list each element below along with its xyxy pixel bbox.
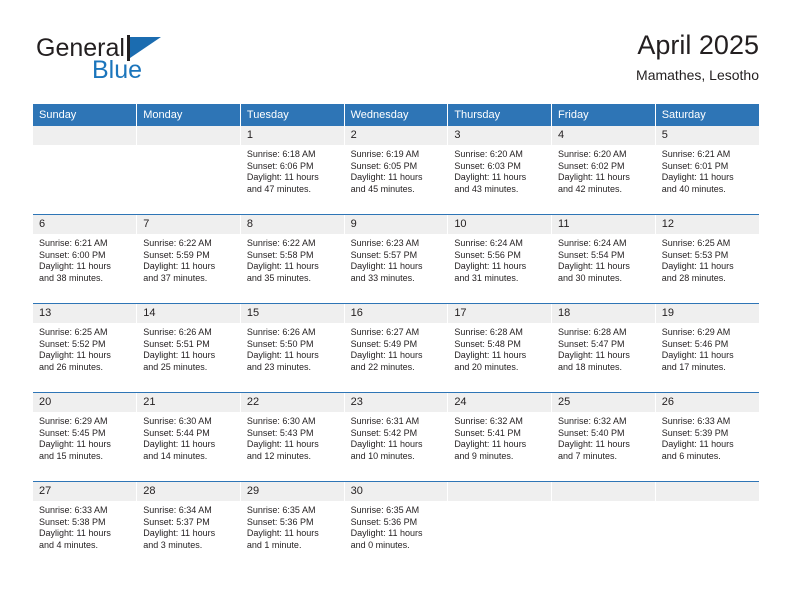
day-number: 23	[345, 393, 448, 412]
sunrise-text: Sunrise: 6:22 AM	[143, 238, 235, 250]
sunset-text: Sunset: 5:51 PM	[143, 339, 235, 351]
daylight-text: and 25 minutes.	[143, 362, 235, 374]
day-details: Sunrise: 6:35 AMSunset: 5:36 PMDaylight:…	[241, 501, 344, 551]
day-details: Sunrise: 6:31 AMSunset: 5:42 PMDaylight:…	[345, 412, 448, 462]
day-details: Sunrise: 6:30 AMSunset: 5:44 PMDaylight:…	[137, 412, 240, 462]
daylight-text: and 33 minutes.	[351, 273, 443, 285]
daylight-text: and 22 minutes.	[351, 362, 443, 374]
page-title: April 2025	[636, 28, 759, 62]
daylight-text: Daylight: 11 hours	[247, 172, 339, 184]
sunset-text: Sunset: 5:53 PM	[662, 250, 754, 262]
calendar-day-cell[interactable]: 2Sunrise: 6:19 AMSunset: 6:05 PMDaylight…	[344, 126, 448, 215]
sunset-text: Sunset: 6:01 PM	[662, 161, 754, 173]
day-details: Sunrise: 6:32 AMSunset: 5:40 PMDaylight:…	[552, 412, 655, 462]
weekday-header-tuesday: Tuesday	[240, 104, 344, 126]
sunrise-text: Sunrise: 6:34 AM	[143, 505, 235, 517]
daylight-text: Daylight: 11 hours	[247, 528, 339, 540]
sunrise-text: Sunrise: 6:33 AM	[662, 416, 754, 428]
daylight-text: and 40 minutes.	[662, 184, 754, 196]
sunset-text: Sunset: 5:56 PM	[454, 250, 546, 262]
page-subtitle: Mamathes, Lesotho	[636, 65, 759, 85]
calendar-week-row: 27Sunrise: 6:33 AMSunset: 5:38 PMDayligh…	[33, 482, 759, 571]
calendar-day-cell[interactable]: 4Sunrise: 6:20 AMSunset: 6:02 PMDaylight…	[552, 126, 656, 215]
daylight-text: and 17 minutes.	[662, 362, 754, 374]
calendar-day-cell[interactable]: 8Sunrise: 6:22 AMSunset: 5:58 PMDaylight…	[240, 215, 344, 304]
daylight-text: Daylight: 11 hours	[351, 528, 443, 540]
sunrise-text: Sunrise: 6:28 AM	[558, 327, 650, 339]
sunrise-text: Sunrise: 6:24 AM	[558, 238, 650, 250]
weekday-header-wednesday: Wednesday	[344, 104, 448, 126]
day-details: Sunrise: 6:20 AMSunset: 6:03 PMDaylight:…	[448, 145, 551, 195]
weekday-header-row: Sunday Monday Tuesday Wednesday Thursday…	[33, 104, 759, 126]
sunset-text: Sunset: 5:47 PM	[558, 339, 650, 351]
day-number: 20	[33, 393, 136, 412]
calendar-day-cell-empty	[552, 482, 656, 571]
calendar-day-cell[interactable]: 27Sunrise: 6:33 AMSunset: 5:38 PMDayligh…	[33, 482, 137, 571]
calendar-day-cell[interactable]: 10Sunrise: 6:24 AMSunset: 5:56 PMDayligh…	[448, 215, 552, 304]
sunrise-text: Sunrise: 6:23 AM	[351, 238, 443, 250]
daylight-text: Daylight: 11 hours	[143, 261, 235, 273]
day-details: Sunrise: 6:33 AMSunset: 5:38 PMDaylight:…	[33, 501, 136, 551]
sunset-text: Sunset: 5:59 PM	[143, 250, 235, 262]
calendar-week-row: 1Sunrise: 6:18 AMSunset: 6:06 PMDaylight…	[33, 126, 759, 215]
calendar-day-cell[interactable]: 7Sunrise: 6:22 AMSunset: 5:59 PMDaylight…	[137, 215, 241, 304]
day-details: Sunrise: 6:25 AMSunset: 5:52 PMDaylight:…	[33, 323, 136, 373]
calendar-day-cell[interactable]: 14Sunrise: 6:26 AMSunset: 5:51 PMDayligh…	[137, 304, 241, 393]
day-number: 13	[33, 304, 136, 323]
daylight-text: and 1 minute.	[247, 540, 339, 552]
sunrise-text: Sunrise: 6:31 AM	[351, 416, 443, 428]
sunrise-text: Sunrise: 6:35 AM	[351, 505, 443, 517]
calendar-day-cell[interactable]: 12Sunrise: 6:25 AMSunset: 5:53 PMDayligh…	[655, 215, 759, 304]
daylight-text: Daylight: 11 hours	[351, 172, 443, 184]
daylight-text: and 3 minutes.	[143, 540, 235, 552]
calendar-day-cell[interactable]: 17Sunrise: 6:28 AMSunset: 5:48 PMDayligh…	[448, 304, 552, 393]
weekday-header-monday: Monday	[137, 104, 241, 126]
daylight-text: Daylight: 11 hours	[247, 350, 339, 362]
sunset-text: Sunset: 5:50 PM	[247, 339, 339, 351]
day-number: 15	[241, 304, 344, 323]
calendar-day-cell[interactable]: 3Sunrise: 6:20 AMSunset: 6:03 PMDaylight…	[448, 126, 552, 215]
sunrise-text: Sunrise: 6:22 AM	[247, 238, 339, 250]
day-details: Sunrise: 6:23 AMSunset: 5:57 PMDaylight:…	[345, 234, 448, 284]
daylight-text: and 28 minutes.	[662, 273, 754, 285]
day-details: Sunrise: 6:28 AMSunset: 5:47 PMDaylight:…	[552, 323, 655, 373]
daylight-text: Daylight: 11 hours	[662, 261, 754, 273]
daylight-text: Daylight: 11 hours	[247, 261, 339, 273]
daylight-text: Daylight: 11 hours	[558, 172, 650, 184]
calendar-day-cell[interactable]: 13Sunrise: 6:25 AMSunset: 5:52 PMDayligh…	[33, 304, 137, 393]
day-details: Sunrise: 6:29 AMSunset: 5:45 PMDaylight:…	[33, 412, 136, 462]
day-details: Sunrise: 6:32 AMSunset: 5:41 PMDaylight:…	[448, 412, 551, 462]
calendar-day-cell[interactable]: 11Sunrise: 6:24 AMSunset: 5:54 PMDayligh…	[552, 215, 656, 304]
day-details: Sunrise: 6:24 AMSunset: 5:54 PMDaylight:…	[552, 234, 655, 284]
daylight-text: Daylight: 11 hours	[558, 261, 650, 273]
daylight-text: Daylight: 11 hours	[39, 350, 131, 362]
daylight-text: and 14 minutes.	[143, 451, 235, 463]
sunset-text: Sunset: 6:05 PM	[351, 161, 443, 173]
sunrise-text: Sunrise: 6:18 AM	[247, 149, 339, 161]
day-number: 12	[656, 215, 759, 234]
day-number: 17	[448, 304, 551, 323]
day-number: 1	[241, 126, 344, 145]
sunset-text: Sunset: 5:40 PM	[558, 428, 650, 440]
day-details: Sunrise: 6:35 AMSunset: 5:36 PMDaylight:…	[345, 501, 448, 551]
daylight-text: and 6 minutes.	[662, 451, 754, 463]
day-details: Sunrise: 6:21 AMSunset: 6:00 PMDaylight:…	[33, 234, 136, 284]
daylight-text: and 26 minutes.	[39, 362, 131, 374]
day-details: Sunrise: 6:19 AMSunset: 6:05 PMDaylight:…	[345, 145, 448, 195]
daylight-text: Daylight: 11 hours	[247, 439, 339, 451]
sunset-text: Sunset: 5:54 PM	[558, 250, 650, 262]
day-number: 6	[33, 215, 136, 234]
sunrise-text: Sunrise: 6:26 AM	[247, 327, 339, 339]
daylight-text: and 4 minutes.	[39, 540, 131, 552]
daylight-text: and 42 minutes.	[558, 184, 650, 196]
sunrise-text: Sunrise: 6:29 AM	[39, 416, 131, 428]
day-number: 16	[345, 304, 448, 323]
weekday-header-friday: Friday	[552, 104, 656, 126]
sunrise-text: Sunrise: 6:28 AM	[454, 327, 546, 339]
calendar-week-row: 6Sunrise: 6:21 AMSunset: 6:00 PMDaylight…	[33, 215, 759, 304]
sunset-text: Sunset: 5:57 PM	[351, 250, 443, 262]
daylight-text: and 45 minutes.	[351, 184, 443, 196]
sunset-text: Sunset: 6:03 PM	[454, 161, 546, 173]
sunrise-text: Sunrise: 6:29 AM	[662, 327, 754, 339]
daylight-text: and 0 minutes.	[351, 540, 443, 552]
calendar-day-cell[interactable]: 22Sunrise: 6:30 AMSunset: 5:43 PMDayligh…	[240, 393, 344, 482]
daylight-text: Daylight: 11 hours	[39, 439, 131, 451]
daylight-text: Daylight: 11 hours	[454, 350, 546, 362]
calendar-day-cell[interactable]: 18Sunrise: 6:28 AMSunset: 5:47 PMDayligh…	[552, 304, 656, 393]
calendar-day-cell[interactable]: 15Sunrise: 6:26 AMSunset: 5:50 PMDayligh…	[240, 304, 344, 393]
sunset-text: Sunset: 5:36 PM	[351, 517, 443, 529]
sunset-text: Sunset: 6:00 PM	[39, 250, 131, 262]
sunrise-text: Sunrise: 6:32 AM	[454, 416, 546, 428]
calendar-day-cell[interactable]: 16Sunrise: 6:27 AMSunset: 5:49 PMDayligh…	[344, 304, 448, 393]
sunrise-text: Sunrise: 6:21 AM	[39, 238, 131, 250]
sunset-text: Sunset: 5:43 PM	[247, 428, 339, 440]
calendar-day-cell[interactable]: 1Sunrise: 6:18 AMSunset: 6:06 PMDaylight…	[240, 126, 344, 215]
sunrise-text: Sunrise: 6:30 AM	[247, 416, 339, 428]
weekday-header-sunday: Sunday	[33, 104, 137, 126]
day-number: 7	[137, 215, 240, 234]
daylight-text: Daylight: 11 hours	[558, 350, 650, 362]
sunset-text: Sunset: 5:42 PM	[351, 428, 443, 440]
daylight-text: Daylight: 11 hours	[558, 439, 650, 451]
logo-text-blue: Blue	[92, 56, 142, 85]
day-details	[448, 501, 551, 505]
daylight-text: and 10 minutes.	[351, 451, 443, 463]
day-number: 18	[552, 304, 655, 323]
sunrise-text: Sunrise: 6:24 AM	[454, 238, 546, 250]
day-number	[656, 482, 759, 501]
day-details	[552, 501, 655, 505]
daylight-text: Daylight: 11 hours	[454, 172, 546, 184]
calendar-day-cell[interactable]: 23Sunrise: 6:31 AMSunset: 5:42 PMDayligh…	[344, 393, 448, 482]
sunrise-text: Sunrise: 6:25 AM	[662, 238, 754, 250]
day-number	[33, 126, 136, 145]
sunset-text: Sunset: 6:06 PM	[247, 161, 339, 173]
day-details: Sunrise: 6:29 AMSunset: 5:46 PMDaylight:…	[656, 323, 759, 373]
page-header: General Blue April 2025 Mamathes, Lesoth…	[33, 28, 759, 94]
day-number: 21	[137, 393, 240, 412]
daylight-text: and 43 minutes.	[454, 184, 546, 196]
calendar-day-cell[interactable]: 9Sunrise: 6:23 AMSunset: 5:57 PMDaylight…	[344, 215, 448, 304]
daylight-text: and 35 minutes.	[247, 273, 339, 285]
day-details: Sunrise: 6:26 AMSunset: 5:50 PMDaylight:…	[241, 323, 344, 373]
daylight-text: Daylight: 11 hours	[454, 439, 546, 451]
calendar-day-cell-empty	[448, 482, 552, 571]
day-number	[137, 126, 240, 145]
day-details	[137, 145, 240, 149]
day-details: Sunrise: 6:24 AMSunset: 5:56 PMDaylight:…	[448, 234, 551, 284]
calendar-week-row: 20Sunrise: 6:29 AMSunset: 5:45 PMDayligh…	[33, 393, 759, 482]
daylight-text: and 15 minutes.	[39, 451, 131, 463]
sunrise-text: Sunrise: 6:35 AM	[247, 505, 339, 517]
day-details: Sunrise: 6:20 AMSunset: 6:02 PMDaylight:…	[552, 145, 655, 195]
calendar-day-cell[interactable]: 26Sunrise: 6:33 AMSunset: 5:39 PMDayligh…	[655, 393, 759, 482]
sunset-text: Sunset: 5:44 PM	[143, 428, 235, 440]
day-number: 5	[656, 126, 759, 145]
day-number: 30	[345, 482, 448, 501]
sunrise-text: Sunrise: 6:33 AM	[39, 505, 131, 517]
sunrise-text: Sunrise: 6:27 AM	[351, 327, 443, 339]
daylight-text: and 30 minutes.	[558, 273, 650, 285]
sunrise-text: Sunrise: 6:21 AM	[662, 149, 754, 161]
calendar-page: General Blue April 2025 Mamathes, Lesoth…	[0, 0, 792, 612]
daylight-text: Daylight: 11 hours	[662, 439, 754, 451]
calendar-day-cell[interactable]: 24Sunrise: 6:32 AMSunset: 5:41 PMDayligh…	[448, 393, 552, 482]
sunrise-text: Sunrise: 6:20 AM	[558, 149, 650, 161]
daylight-text: and 18 minutes.	[558, 362, 650, 374]
calendar-table: Sunday Monday Tuesday Wednesday Thursday…	[33, 104, 759, 570]
day-number: 9	[345, 215, 448, 234]
day-details: Sunrise: 6:25 AMSunset: 5:53 PMDaylight:…	[656, 234, 759, 284]
day-number: 3	[448, 126, 551, 145]
daylight-text: and 9 minutes.	[454, 451, 546, 463]
day-number: 24	[448, 393, 551, 412]
sunset-text: Sunset: 5:41 PM	[454, 428, 546, 440]
sunrise-text: Sunrise: 6:19 AM	[351, 149, 443, 161]
day-number: 8	[241, 215, 344, 234]
day-details: Sunrise: 6:30 AMSunset: 5:43 PMDaylight:…	[241, 412, 344, 462]
daylight-text: and 12 minutes.	[247, 451, 339, 463]
day-number: 11	[552, 215, 655, 234]
calendar-day-cell-empty	[33, 126, 137, 215]
daylight-text: Daylight: 11 hours	[143, 350, 235, 362]
sunrise-text: Sunrise: 6:26 AM	[143, 327, 235, 339]
daylight-text: Daylight: 11 hours	[351, 439, 443, 451]
sunset-text: Sunset: 5:36 PM	[247, 517, 339, 529]
calendar-day-cell-empty	[655, 482, 759, 571]
calendar-day-cell[interactable]: 30Sunrise: 6:35 AMSunset: 5:36 PMDayligh…	[344, 482, 448, 571]
weekday-header-thursday: Thursday	[448, 104, 552, 126]
day-number: 27	[33, 482, 136, 501]
sunset-text: Sunset: 5:37 PM	[143, 517, 235, 529]
day-details: Sunrise: 6:28 AMSunset: 5:48 PMDaylight:…	[448, 323, 551, 373]
day-number: 25	[552, 393, 655, 412]
day-details: Sunrise: 6:18 AMSunset: 6:06 PMDaylight:…	[241, 145, 344, 195]
day-details: Sunrise: 6:21 AMSunset: 6:01 PMDaylight:…	[656, 145, 759, 195]
sunset-text: Sunset: 5:39 PM	[662, 428, 754, 440]
calendar-week-row: 13Sunrise: 6:25 AMSunset: 5:52 PMDayligh…	[33, 304, 759, 393]
day-details: Sunrise: 6:26 AMSunset: 5:51 PMDaylight:…	[137, 323, 240, 373]
sunset-text: Sunset: 5:49 PM	[351, 339, 443, 351]
daylight-text: and 37 minutes.	[143, 273, 235, 285]
sunset-text: Sunset: 5:52 PM	[39, 339, 131, 351]
calendar-day-cell-empty	[137, 126, 241, 215]
daylight-text: and 23 minutes.	[247, 362, 339, 374]
sunset-text: Sunset: 5:46 PM	[662, 339, 754, 351]
day-number: 14	[137, 304, 240, 323]
day-details	[656, 501, 759, 505]
weekday-header-saturday: Saturday	[655, 104, 759, 126]
day-number: 2	[345, 126, 448, 145]
sunset-text: Sunset: 5:38 PM	[39, 517, 131, 529]
day-details: Sunrise: 6:27 AMSunset: 5:49 PMDaylight:…	[345, 323, 448, 373]
calendar-day-cell[interactable]: 6Sunrise: 6:21 AMSunset: 6:00 PMDaylight…	[33, 215, 137, 304]
calendar-day-cell[interactable]: 21Sunrise: 6:30 AMSunset: 5:44 PMDayligh…	[137, 393, 241, 482]
daylight-text: Daylight: 11 hours	[662, 350, 754, 362]
calendar-day-cell[interactable]: 25Sunrise: 6:32 AMSunset: 5:40 PMDayligh…	[552, 393, 656, 482]
day-details: Sunrise: 6:22 AMSunset: 5:59 PMDaylight:…	[137, 234, 240, 284]
daylight-text: and 31 minutes.	[454, 273, 546, 285]
daylight-text: Daylight: 11 hours	[351, 350, 443, 362]
day-details	[33, 145, 136, 149]
calendar-day-cell[interactable]: 5Sunrise: 6:21 AMSunset: 6:01 PMDaylight…	[655, 126, 759, 215]
calendar-day-cell[interactable]: 19Sunrise: 6:29 AMSunset: 5:46 PMDayligh…	[655, 304, 759, 393]
daylight-text: Daylight: 11 hours	[351, 261, 443, 273]
blue-flag-icon	[130, 37, 161, 58]
daylight-text: Daylight: 11 hours	[39, 261, 131, 273]
day-number	[448, 482, 551, 501]
sunset-text: Sunset: 6:02 PM	[558, 161, 650, 173]
sunrise-text: Sunrise: 6:20 AM	[454, 149, 546, 161]
daylight-text: Daylight: 11 hours	[454, 261, 546, 273]
day-number	[552, 482, 655, 501]
daylight-text: and 20 minutes.	[454, 362, 546, 374]
day-details: Sunrise: 6:34 AMSunset: 5:37 PMDaylight:…	[137, 501, 240, 551]
day-number: 26	[656, 393, 759, 412]
day-number: 29	[241, 482, 344, 501]
sunrise-text: Sunrise: 6:25 AM	[39, 327, 131, 339]
sunset-text: Sunset: 5:45 PM	[39, 428, 131, 440]
day-details: Sunrise: 6:33 AMSunset: 5:39 PMDaylight:…	[656, 412, 759, 462]
calendar-day-cell[interactable]: 29Sunrise: 6:35 AMSunset: 5:36 PMDayligh…	[240, 482, 344, 571]
sunset-text: Sunset: 5:48 PM	[454, 339, 546, 351]
day-number: 22	[241, 393, 344, 412]
daylight-text: Daylight: 11 hours	[143, 528, 235, 540]
daylight-text: Daylight: 11 hours	[662, 172, 754, 184]
day-number: 19	[656, 304, 759, 323]
sunrise-text: Sunrise: 6:32 AM	[558, 416, 650, 428]
daylight-text: Daylight: 11 hours	[39, 528, 131, 540]
sunset-text: Sunset: 5:58 PM	[247, 250, 339, 262]
title-block: April 2025 Mamathes, Lesotho	[636, 28, 759, 85]
day-details: Sunrise: 6:22 AMSunset: 5:58 PMDaylight:…	[241, 234, 344, 284]
sunrise-text: Sunrise: 6:30 AM	[143, 416, 235, 428]
daylight-text: and 7 minutes.	[558, 451, 650, 463]
calendar-day-cell[interactable]: 20Sunrise: 6:29 AMSunset: 5:45 PMDayligh…	[33, 393, 137, 482]
day-number: 28	[137, 482, 240, 501]
calendar-day-cell[interactable]: 28Sunrise: 6:34 AMSunset: 5:37 PMDayligh…	[137, 482, 241, 571]
daylight-text: and 38 minutes.	[39, 273, 131, 285]
day-number: 4	[552, 126, 655, 145]
daylight-text: Daylight: 11 hours	[143, 439, 235, 451]
general-blue-logo[interactable]: General Blue	[33, 28, 243, 90]
daylight-text: and 47 minutes.	[247, 184, 339, 196]
calendar-body: 1Sunrise: 6:18 AMSunset: 6:06 PMDaylight…	[33, 126, 759, 570]
day-number: 10	[448, 215, 551, 234]
